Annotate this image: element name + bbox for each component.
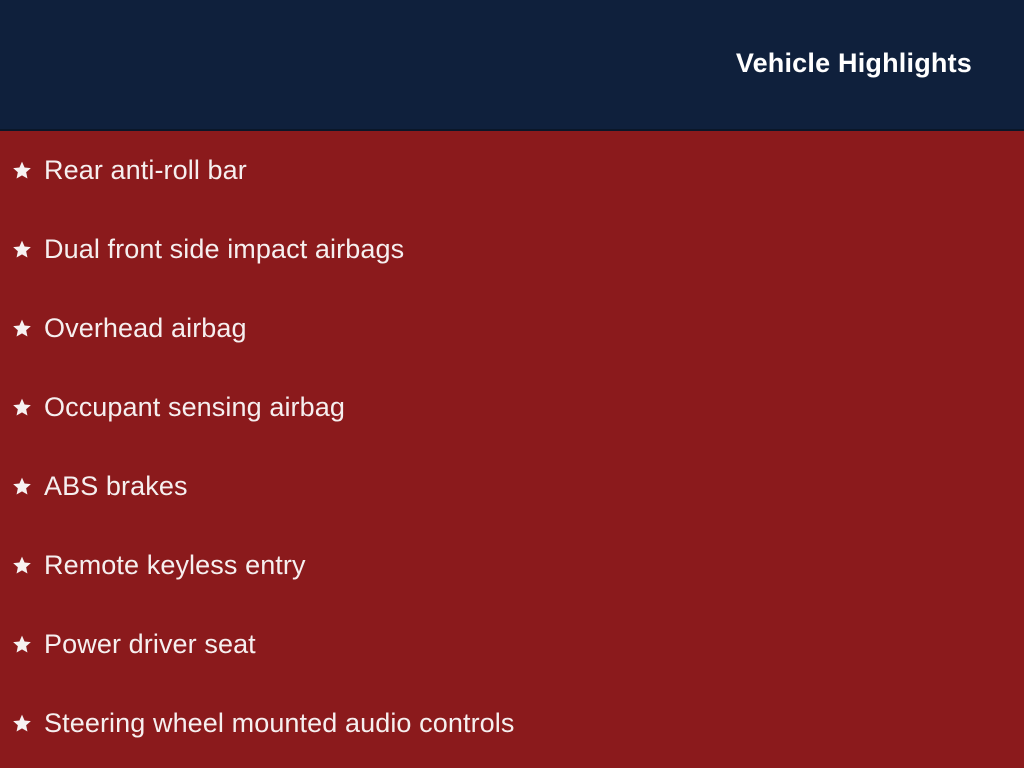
list-item: Overhead airbag [12, 311, 247, 345]
list-item-label: Overhead airbag [44, 311, 247, 345]
slide-header: Vehicle Highlights [0, 0, 1024, 131]
list-item-label: Rear anti-roll bar [44, 153, 247, 187]
list-item: Steering wheel mounted audio controls [12, 706, 515, 740]
list-item: Rear anti-roll bar [12, 153, 247, 187]
list-item-label: Dual front side impact airbags [44, 232, 404, 266]
page-title: Vehicle Highlights [736, 46, 972, 80]
list-item: ABS brakes [12, 469, 188, 503]
list-item: Remote keyless entry [12, 548, 306, 582]
star-icon [12, 634, 32, 654]
vehicle-highlights-list: Rear anti-roll bar Dual front side impac… [0, 131, 1024, 768]
star-icon [12, 555, 32, 575]
list-item-label: Occupant sensing airbag [44, 390, 345, 424]
list-item-label: ABS brakes [44, 469, 188, 503]
star-icon [12, 713, 32, 733]
star-icon [12, 239, 32, 259]
star-icon [12, 160, 32, 180]
list-item-label: Power driver seat [44, 627, 256, 661]
list-item: Power driver seat [12, 627, 256, 661]
star-icon [12, 318, 32, 338]
vehicle-highlights-slide: Vehicle Highlights Rear anti-roll bar Du… [0, 0, 1024, 768]
star-icon [12, 397, 32, 417]
list-item-label: Remote keyless entry [44, 548, 306, 582]
star-icon [12, 476, 32, 496]
list-item: Occupant sensing airbag [12, 390, 345, 424]
list-item-label: Steering wheel mounted audio controls [44, 706, 515, 740]
list-item: Dual front side impact airbags [12, 232, 404, 266]
